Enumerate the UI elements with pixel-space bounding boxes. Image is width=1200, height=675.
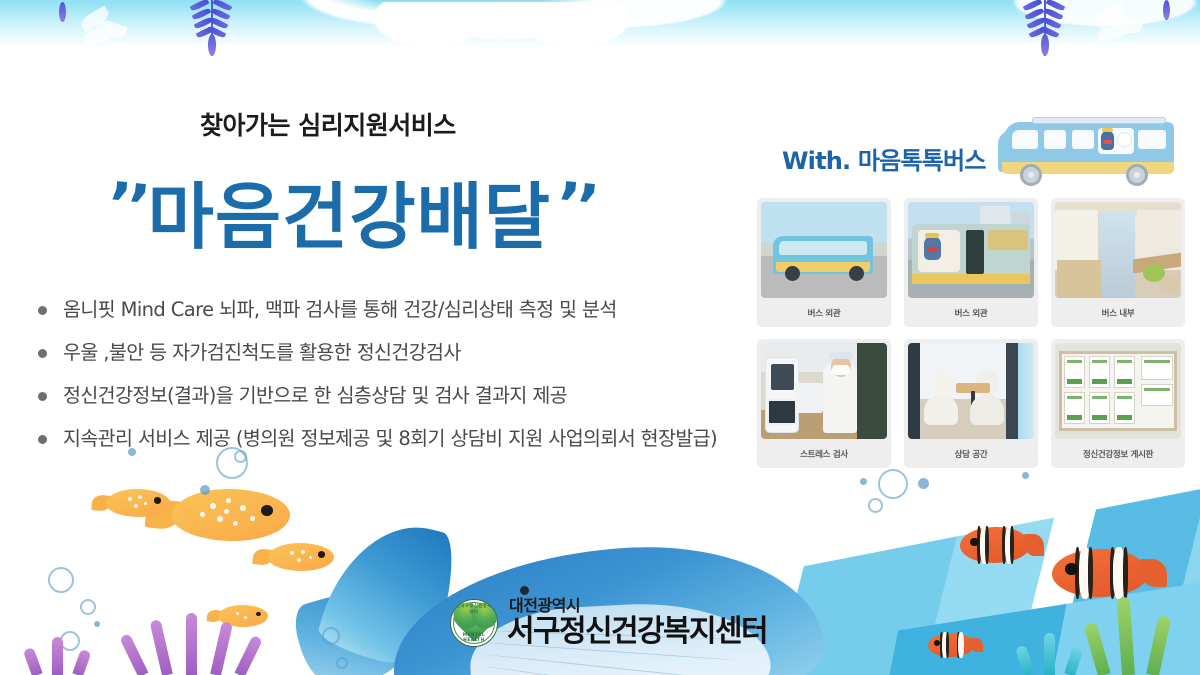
photo-card[interactable]: 스트레스 검사 <box>757 339 891 468</box>
photo-card[interactable]: 상담 공간 <box>904 339 1038 468</box>
cyan-coral-icon <box>1018 627 1090 675</box>
white-leaf-cluster-left <box>80 4 140 44</box>
yellow-fish-icon <box>268 543 334 571</box>
open-quote-mark: ’’ <box>104 169 149 243</box>
photo-card[interactable]: 정신건강정보 게시판 <box>1051 339 1185 468</box>
top-watercolor-wash-secondary <box>250 0 670 48</box>
white-leaf-cluster-right <box>1095 2 1155 44</box>
stress-test-photo <box>761 343 887 439</box>
whale-tail-lower-icon <box>289 581 410 675</box>
bubble-icon <box>918 478 929 489</box>
fern-bud-icon-right <box>1163 0 1170 20</box>
bus-interior-photo <box>1055 202 1181 298</box>
whale-tail-upper-icon <box>315 509 463 673</box>
bullet-dot-icon <box>38 306 47 315</box>
photo-card[interactable]: 버스 외관 <box>757 198 891 327</box>
fern-bud-icon-left <box>59 2 66 22</box>
bubble-icon <box>1022 472 1029 479</box>
photo-caption: 정신건강정보 게시판 <box>1083 439 1153 468</box>
seagrass-icon <box>1090 587 1180 675</box>
list-item-label: 우울 ,불안 등 자가검진척도를 활용한 정신건강검사 <box>63 339 461 367</box>
counseling-space-photo <box>908 343 1034 439</box>
emblem-bottom-text: MENTAL HEALTH <box>451 632 497 642</box>
bubble-icon <box>80 599 96 615</box>
poster-slide: 찾아가는 심리지원서비스 ’’마음건강배달’’ 옴니핏 Mind Care 뇌파… <box>0 0 1200 675</box>
bubble-icon <box>322 627 340 645</box>
fern-frond-icon-left <box>192 0 232 56</box>
top-white-heart-shape <box>352 2 652 60</box>
bubble-icon <box>868 498 883 513</box>
top-watercolor-wash <box>0 0 1200 48</box>
bubble-icon <box>48 567 74 593</box>
whale-eye-icon <box>520 586 529 595</box>
feature-bullet-list: 옴니핏 Mind Care 뇌파, 맥파 검사를 통해 건강/심리상태 측정 및… <box>38 296 758 468</box>
green-heart-emblem-icon: 대전서구정신건강복지센터 MENTAL HEALTH <box>450 599 498 647</box>
info-board-photo <box>1055 343 1181 439</box>
photo-caption: 버스 외관 <box>955 298 988 327</box>
page-title-text: 마음건강배달 <box>148 175 551 259</box>
photo-caption: 버스 외관 <box>808 298 841 327</box>
purple-coral-icon-small <box>26 629 96 675</box>
bus-illustration-icon <box>998 112 1180 186</box>
photo-card[interactable]: 버스 외관 <box>904 198 1038 327</box>
yellow-fish-icon <box>172 489 290 541</box>
clownfish-icon <box>960 527 1030 563</box>
emblem-top-text: 대전서구정신건강복지센터 <box>451 603 497 615</box>
bullet-dot-icon <box>38 349 47 358</box>
list-item: 우울 ,불안 등 자가검진척도를 활용한 정신건강검사 <box>38 339 758 367</box>
bubble-icon <box>200 485 210 495</box>
photo-caption: 스트레스 검사 <box>800 439 848 468</box>
yellow-fish-icon <box>106 489 170 517</box>
organization-logo: 대전서구정신건강복지센터 MENTAL HEALTH 대전광역시 서구정신건강복… <box>450 598 767 647</box>
bubble-icon <box>94 621 100 627</box>
wave-band-right-secondary <box>777 582 1200 675</box>
photo-card[interactable]: 버스 내부 <box>1051 198 1185 327</box>
yellow-fish-icon <box>218 605 268 627</box>
list-item: 옴니핏 Mind Care 뇌파, 맥파 검사를 통해 건강/심리상태 측정 및… <box>38 296 758 324</box>
logo-city-name: 대전광역시 <box>509 598 767 614</box>
clownfish-icon <box>928 633 974 657</box>
list-item-label: 정신건강정보(결과)을 기반으로 한 심층상담 및 검사 결과지 제공 <box>63 382 567 410</box>
bullet-dot-icon <box>38 392 47 401</box>
bullet-dot-icon <box>38 435 47 444</box>
clownfish-icon <box>1052 549 1148 597</box>
bus-exterior-mascot-photo <box>908 202 1034 298</box>
right-panel-heading: With. 마음톡톡버스 <box>782 141 986 176</box>
bubble-icon <box>60 631 80 651</box>
logo-center-name: 서구정신건강복지센터 <box>507 617 767 647</box>
photo-caption: 상담 공간 <box>955 439 988 468</box>
list-item: 지속관리 서비스 제공 (병의원 정보제공 및 8회기 상담비 지원 사업의뢰서… <box>38 425 758 453</box>
photo-caption: 버스 내부 <box>1102 298 1135 327</box>
close-quote-mark: ’’ <box>553 169 598 243</box>
bubble-icon <box>336 657 348 669</box>
list-item-label: 옴니핏 Mind Care 뇌파, 맥파 검사를 통해 건강/심리상태 측정 및… <box>63 296 617 324</box>
purple-coral-icon <box>128 605 258 675</box>
bus-exterior-blue-photo <box>761 202 887 298</box>
bubble-icon <box>860 478 867 485</box>
page-subtitle: 찾아가는 심리지원서비스 <box>200 106 456 142</box>
list-item: 정신건강정보(결과)을 기반으로 한 심층상담 및 검사 결과지 제공 <box>38 382 758 410</box>
bubble-icon <box>878 469 908 499</box>
fern-frond-icon-right <box>1025 0 1065 56</box>
list-item-label: 지속관리 서비스 제공 (병의원 정보제공 및 8회기 상담비 지원 사업의뢰서… <box>63 425 717 453</box>
photo-gallery-grid: 버스 외관 버스 외관 버스 내부 <box>757 198 1185 468</box>
page-title: ’’마음건강배달’’ <box>108 158 595 263</box>
